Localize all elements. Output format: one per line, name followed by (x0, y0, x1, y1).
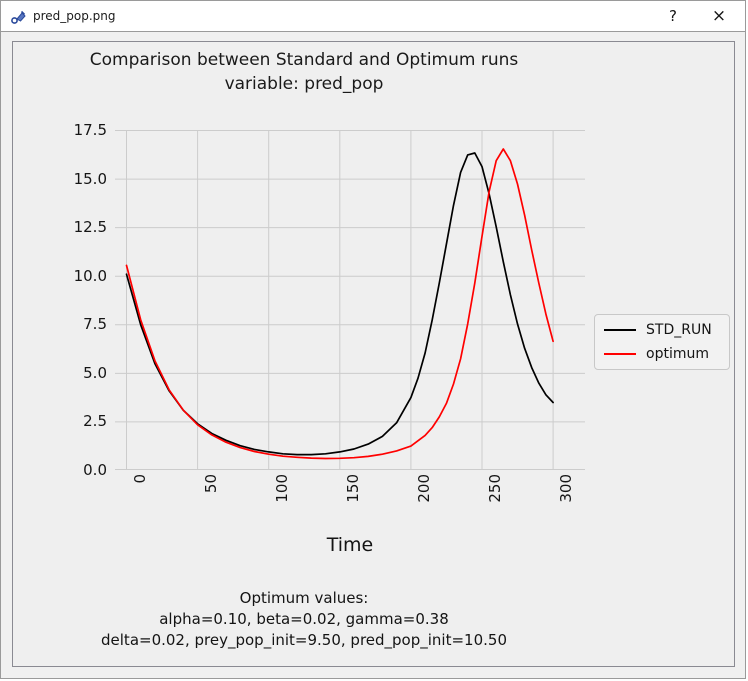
y-tick-label: 5.0 (83, 364, 107, 382)
annotation-line-3: delta=0.02, prey_pop_init=9.50, pred_pop… (13, 630, 595, 651)
optimum-values-annotation: Optimum values: alpha=0.10, beta=0.02, g… (13, 588, 595, 651)
y-tick-label: 17.5 (74, 121, 107, 139)
y-tick-label: 7.5 (83, 315, 107, 333)
help-button[interactable]: ? (651, 1, 695, 31)
image-viewer-window: pred_pop.png ? × Comparison between Stan… (0, 0, 746, 679)
legend-swatch-optimum (604, 353, 636, 355)
legend-label-std-run: STD_RUN (646, 322, 712, 338)
x-axis-label: Time (115, 534, 585, 556)
x-axis-ticklabels: 0 50 100 150 200 250 300 (115, 474, 585, 534)
plot-canvas (115, 130, 585, 470)
y-tick-label: 12.5 (74, 218, 107, 236)
x-tick-label: 250 (486, 474, 504, 503)
y-axis-ticklabels: 17.5 15.0 12.5 10.0 7.5 5.0 2.5 0.0 (35, 130, 107, 470)
x-tick-label: 100 (273, 474, 291, 503)
image-display-frame: Comparison between Standard and Optimum … (12, 41, 735, 667)
chart-title-line1: Comparison between Standard and Optimum … (13, 48, 595, 72)
plot-window-icon (11, 9, 27, 25)
legend-item-optimum: optimum (595, 342, 729, 366)
y-tick-label: 15.0 (74, 170, 107, 188)
x-tick-label: 50 (202, 474, 220, 493)
close-button[interactable]: × (697, 1, 741, 31)
matplotlib-figure: Comparison between Standard and Optimum … (13, 42, 734, 666)
window-title: pred_pop.png (33, 8, 116, 24)
chart-legend: STD_RUN optimum (594, 314, 730, 370)
window-client-area: Comparison between Standard and Optimum … (1, 32, 745, 678)
y-tick-label: 2.5 (83, 412, 107, 430)
chart-title: Comparison between Standard and Optimum … (13, 48, 595, 96)
legend-swatch-std-run (604, 329, 636, 331)
x-tick-label: 150 (344, 474, 362, 503)
annotation-line-2: alpha=0.10, beta=0.02, gamma=0.38 (13, 609, 595, 630)
grid-lines (115, 130, 585, 470)
y-tick-label: 0.0 (83, 461, 107, 479)
window-titlebar: pred_pop.png ? × (1, 1, 745, 32)
y-tick-label: 10.0 (74, 267, 107, 285)
legend-item-std-run: STD_RUN (595, 318, 729, 342)
x-tick-label: 200 (415, 474, 433, 503)
plot-area (115, 130, 585, 470)
x-tick-label: 0 (131, 474, 149, 484)
legend-label-optimum: optimum (646, 346, 709, 362)
chart-title-line2: variable: pred_pop (13, 72, 595, 96)
x-tick-label: 300 (557, 474, 575, 503)
annotation-line-1: Optimum values: (13, 588, 595, 609)
